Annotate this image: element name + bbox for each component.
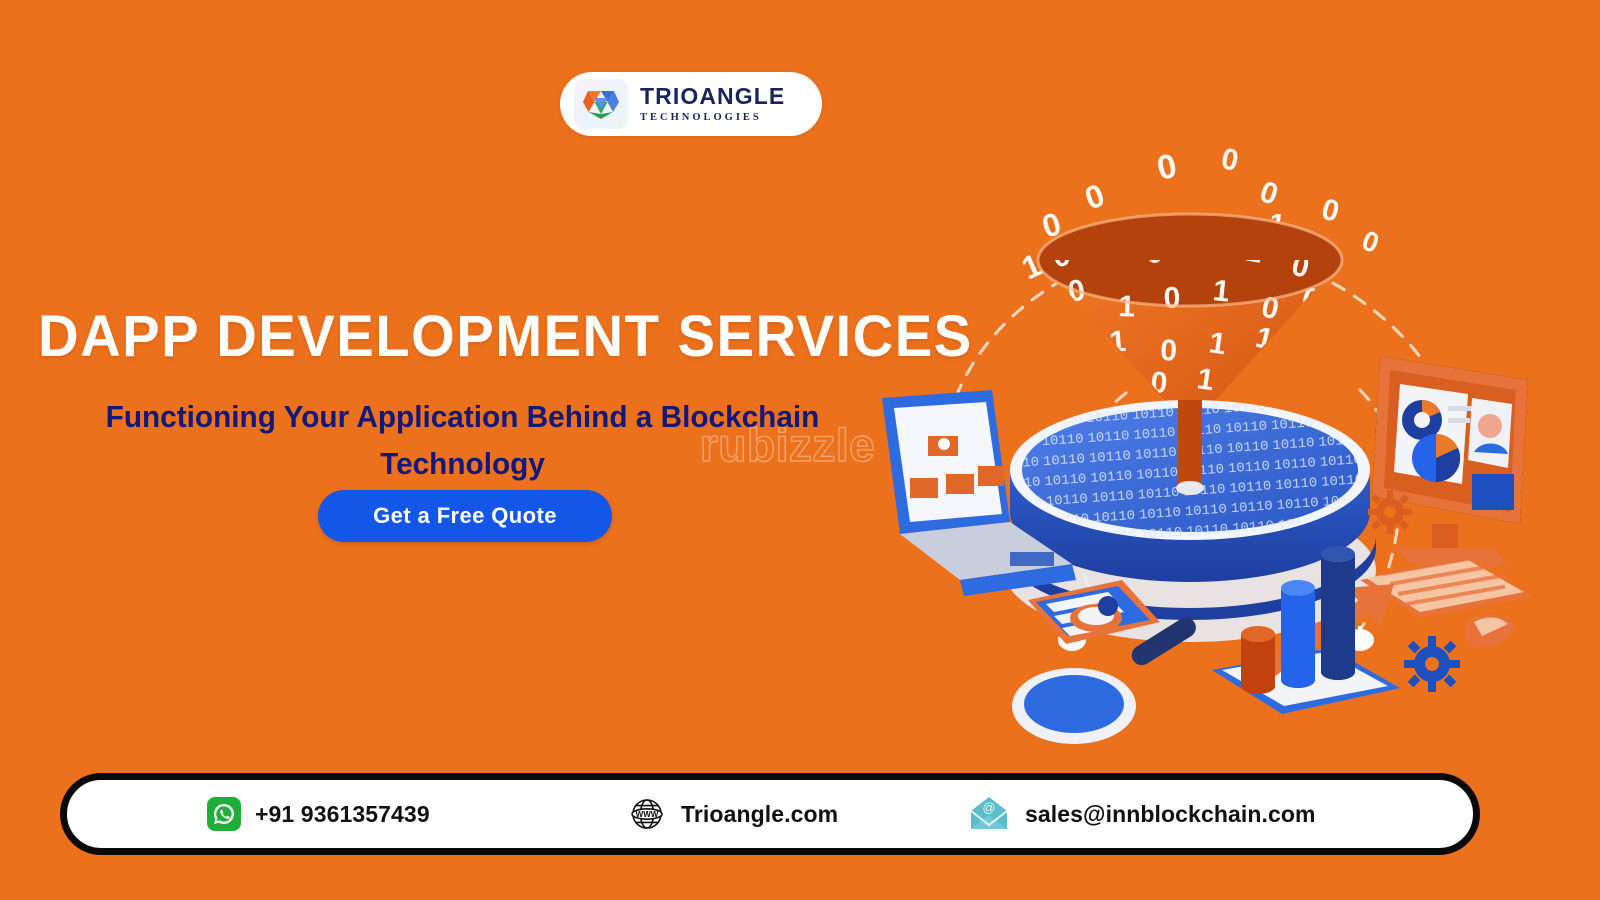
svg-text:0: 0 bbox=[1318, 193, 1342, 229]
page-subtitle: Functioning Your Application Behind a Bl… bbox=[57, 393, 868, 487]
svg-text:WWW: WWW bbox=[636, 810, 659, 819]
whatsapp-icon bbox=[207, 797, 241, 831]
page-title: DAPP DEVELOPMENT SERVICES bbox=[38, 307, 872, 368]
brand-logo-text: TRIOANGLE TECHNOLOGIES bbox=[640, 85, 785, 124]
svg-text:0: 0 bbox=[1358, 225, 1383, 259]
svg-text:0: 0 bbox=[1154, 147, 1180, 188]
svg-text:@: @ bbox=[982, 800, 995, 815]
trioangle-triangle-logo-icon bbox=[574, 79, 628, 129]
brand-name: TRIOANGLE bbox=[640, 85, 785, 108]
svg-text:0: 0 bbox=[1080, 177, 1109, 217]
brand-logo[interactable]: TRIOANGLE TECHNOLOGIES bbox=[560, 72, 822, 136]
svg-text:0: 0 bbox=[1256, 175, 1282, 212]
svg-text:0: 0 bbox=[1163, 281, 1181, 315]
svg-text:0: 0 bbox=[1160, 334, 1178, 368]
phone-number: +91 9361357439 bbox=[255, 801, 430, 828]
contact-email[interactable]: @ sales@innblockchain.com bbox=[967, 795, 1316, 833]
contact-bar: +91 9361357439 WWW Trioangle.com @ bbox=[60, 773, 1480, 855]
contact-phone[interactable]: +91 9361357439 bbox=[207, 797, 430, 831]
blockchain-data-funnel-illustration: 10110 0 0 0 bbox=[860, 140, 1580, 760]
brand-tagline: TECHNOLOGIES bbox=[640, 113, 785, 124]
get-a-free-quote-button[interactable]: Get a Free Quote bbox=[318, 490, 612, 542]
svg-text:1: 1 bbox=[1108, 325, 1127, 359]
contact-website[interactable]: WWW Trioangle.com bbox=[627, 796, 838, 832]
svg-text:0: 0 bbox=[1219, 142, 1241, 177]
svg-text:1: 1 bbox=[1118, 290, 1136, 324]
mouse-icon bbox=[1464, 614, 1516, 648]
svg-text:0: 0 bbox=[1150, 366, 1169, 400]
email-address: sales@innblockchain.com bbox=[1025, 801, 1316, 828]
envelope-at-icon: @ bbox=[967, 795, 1011, 833]
website-url: Trioangle.com bbox=[681, 801, 838, 828]
globe-www-icon: WWW bbox=[627, 796, 667, 832]
promo-banner: TRIOANGLE TECHNOLOGIES DAPP DEVELOPMENT … bbox=[0, 0, 1600, 900]
